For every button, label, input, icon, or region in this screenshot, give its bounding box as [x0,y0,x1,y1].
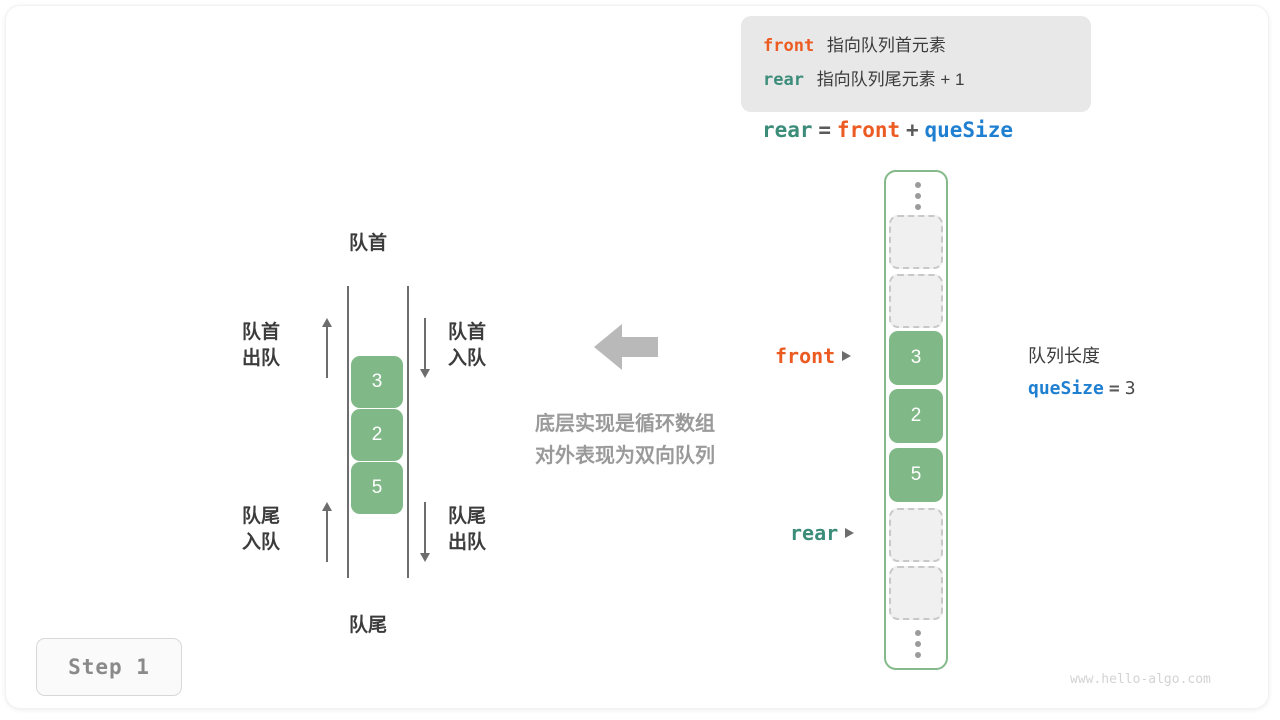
array-cell-1[interactable] [889,274,943,328]
deque-cell-1[interactable]: 2 [351,409,403,461]
center-note-line2: 对外表现为双向队列 [500,440,750,472]
arrow-head-pop-icon [320,318,334,378]
formula-equals: = [818,118,831,142]
quesize-note: 队列长度 queSize = 3 [1028,340,1136,405]
array-cell-3-value: 2 [911,405,922,427]
watermark: www.hello-algo.com [1070,672,1211,687]
deque-rail-left [347,286,349,578]
legend-desc-front: 指向队列首元素 [827,36,946,55]
deque-cell-2-value: 5 [372,477,383,499]
array-bottom-ellipsis-icon [886,622,950,666]
deque-bottom-caption: 队尾 [349,610,387,637]
arrow-tail-push-icon [320,502,334,562]
formula-rear-equals: rear = front + queSize [762,118,1013,143]
quesize-value: 3 [1125,378,1136,399]
center-note: 底层实现是循环数组 对外表现为双向队列 [500,408,750,472]
deque-cell-2[interactable]: 5 [351,462,403,514]
rear-pointer-label: rear [790,521,838,545]
formula-front: front [837,118,900,142]
deque-cell-1-value: 2 [372,424,383,446]
array-cell-0[interactable] [889,215,943,269]
legend-line-front: front 指向队列首元素 [763,29,1091,63]
deque-rail-right [407,286,409,578]
deque-cell-0-value: 3 [372,371,383,393]
legend-line-rear: rear 指向队列尾元素 + 1 [763,63,1091,97]
array-cell-6[interactable] [889,566,943,620]
arrow-tail-pop-icon [418,502,432,562]
front-arrow-icon [842,351,851,361]
legend-term-rear: rear [763,70,804,90]
diagram-canvas: front 指向队列首元素 rear 指向队列尾元素 + 1 rear = fr… [0,0,1280,720]
rear-arrow-icon [845,528,854,538]
quesize-equals: = [1109,378,1120,399]
front-pointer-label: front [775,344,835,368]
formula-quesize: queSize [924,118,1013,142]
step-badge: Step 1 [36,638,182,696]
arrow-head-push-icon [418,318,432,378]
deque-top-caption: 队首 [349,228,387,255]
array-top-ellipsis-icon [886,174,950,218]
formula-plus: + [906,118,919,142]
legend-term-front: front [763,36,814,56]
array-cell-2[interactable]: 3 [889,331,943,385]
quesize-note-title: 队列长度 [1028,340,1136,372]
legend-box: front 指向队列首元素 rear 指向队列尾元素 + 1 [741,16,1091,112]
big-left-arrow-icon [594,320,658,374]
op-label-tail-push: 队尾入队 [212,504,280,556]
legend-desc-rear: 指向队列尾元素 + 1 [817,70,965,89]
quesize-var: queSize [1028,378,1104,399]
array-cell-5[interactable] [889,508,943,562]
op-label-head-push: 队首入队 [448,320,516,372]
array-cell-4-value: 5 [911,464,922,486]
op-label-tail-pop: 队尾出队 [448,504,516,556]
front-pointer: front [775,344,851,368]
op-label-head-pop: 队首出队 [212,320,280,372]
array-cell-2-value: 3 [911,347,922,369]
formula-rear: rear [762,118,813,142]
array-cell-3[interactable]: 2 [889,389,943,443]
rear-pointer: rear [790,521,854,545]
quesize-note-expr: queSize = 3 [1028,372,1136,405]
center-note-line1: 底层实现是循环数组 [500,408,750,440]
deque-cell-0[interactable]: 3 [351,356,403,408]
array-cell-4[interactable]: 5 [889,448,943,502]
